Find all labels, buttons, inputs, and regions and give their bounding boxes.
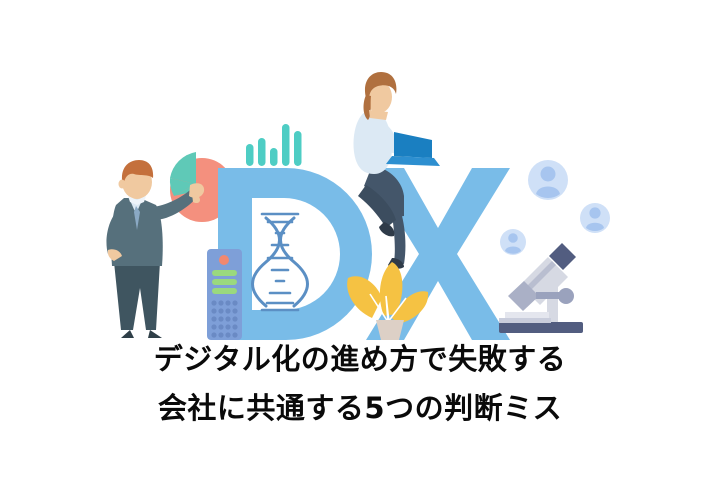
user-avatar-icon (500, 160, 610, 255)
headline-line-1: デジタル化の進め方で失敗する (0, 345, 720, 374)
server-rack-icon (207, 249, 242, 340)
headline-line-2: 会社に共通する5つの判断ミス (0, 394, 720, 423)
bar-chart-icon (246, 124, 302, 166)
microscope-icon (499, 243, 583, 333)
illustration-canvas: デジタル化の進め方で失敗する 会社に共通する5つの判断ミス (0, 0, 720, 480)
